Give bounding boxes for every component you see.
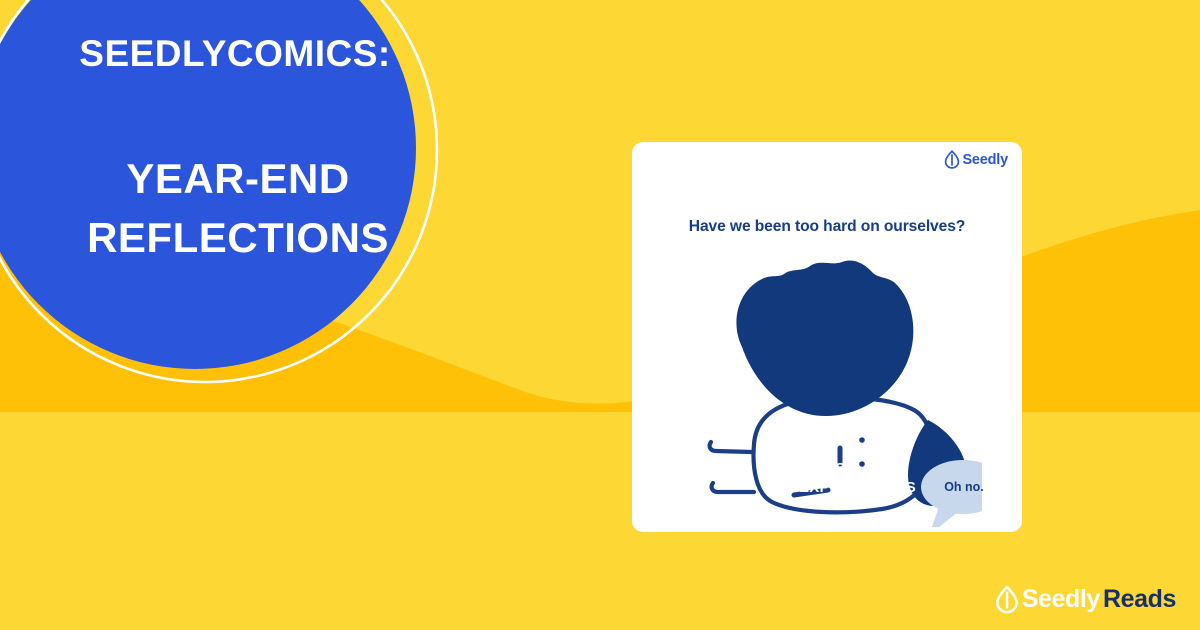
comic-headline: Have we been too hard on ourselves? [632,218,1022,236]
footer-seedly-reads-logo[interactable]: Seedly Reads [995,585,1176,614]
comic-card[interactable]: Seedly Have we been too hard on ourselve… [632,142,1022,532]
card-seedly-logo: Seedly [944,150,1008,169]
character-leg-front [710,442,752,452]
self-expectations-blob [736,260,913,416]
footer-reads-word: Reads [1103,585,1176,614]
character-leg-back [712,483,754,492]
comic-art-svg [682,252,982,527]
comic-illustration: SELF- EXPECTATIONS Oh no. [682,252,982,527]
footer-seedly-word: Seedly [1022,585,1100,614]
seedly-droplet-icon [944,150,960,169]
character-eye-dot-top [859,437,865,443]
social-card-canvas: SEEDLYCOMICS: YEAR-END REFLECTIONS Seedl… [0,0,1200,630]
card-seedly-wordmark: Seedly [962,152,1008,168]
character-eye-dot-bottom [859,461,865,467]
seedly-droplet-icon [995,585,1019,614]
